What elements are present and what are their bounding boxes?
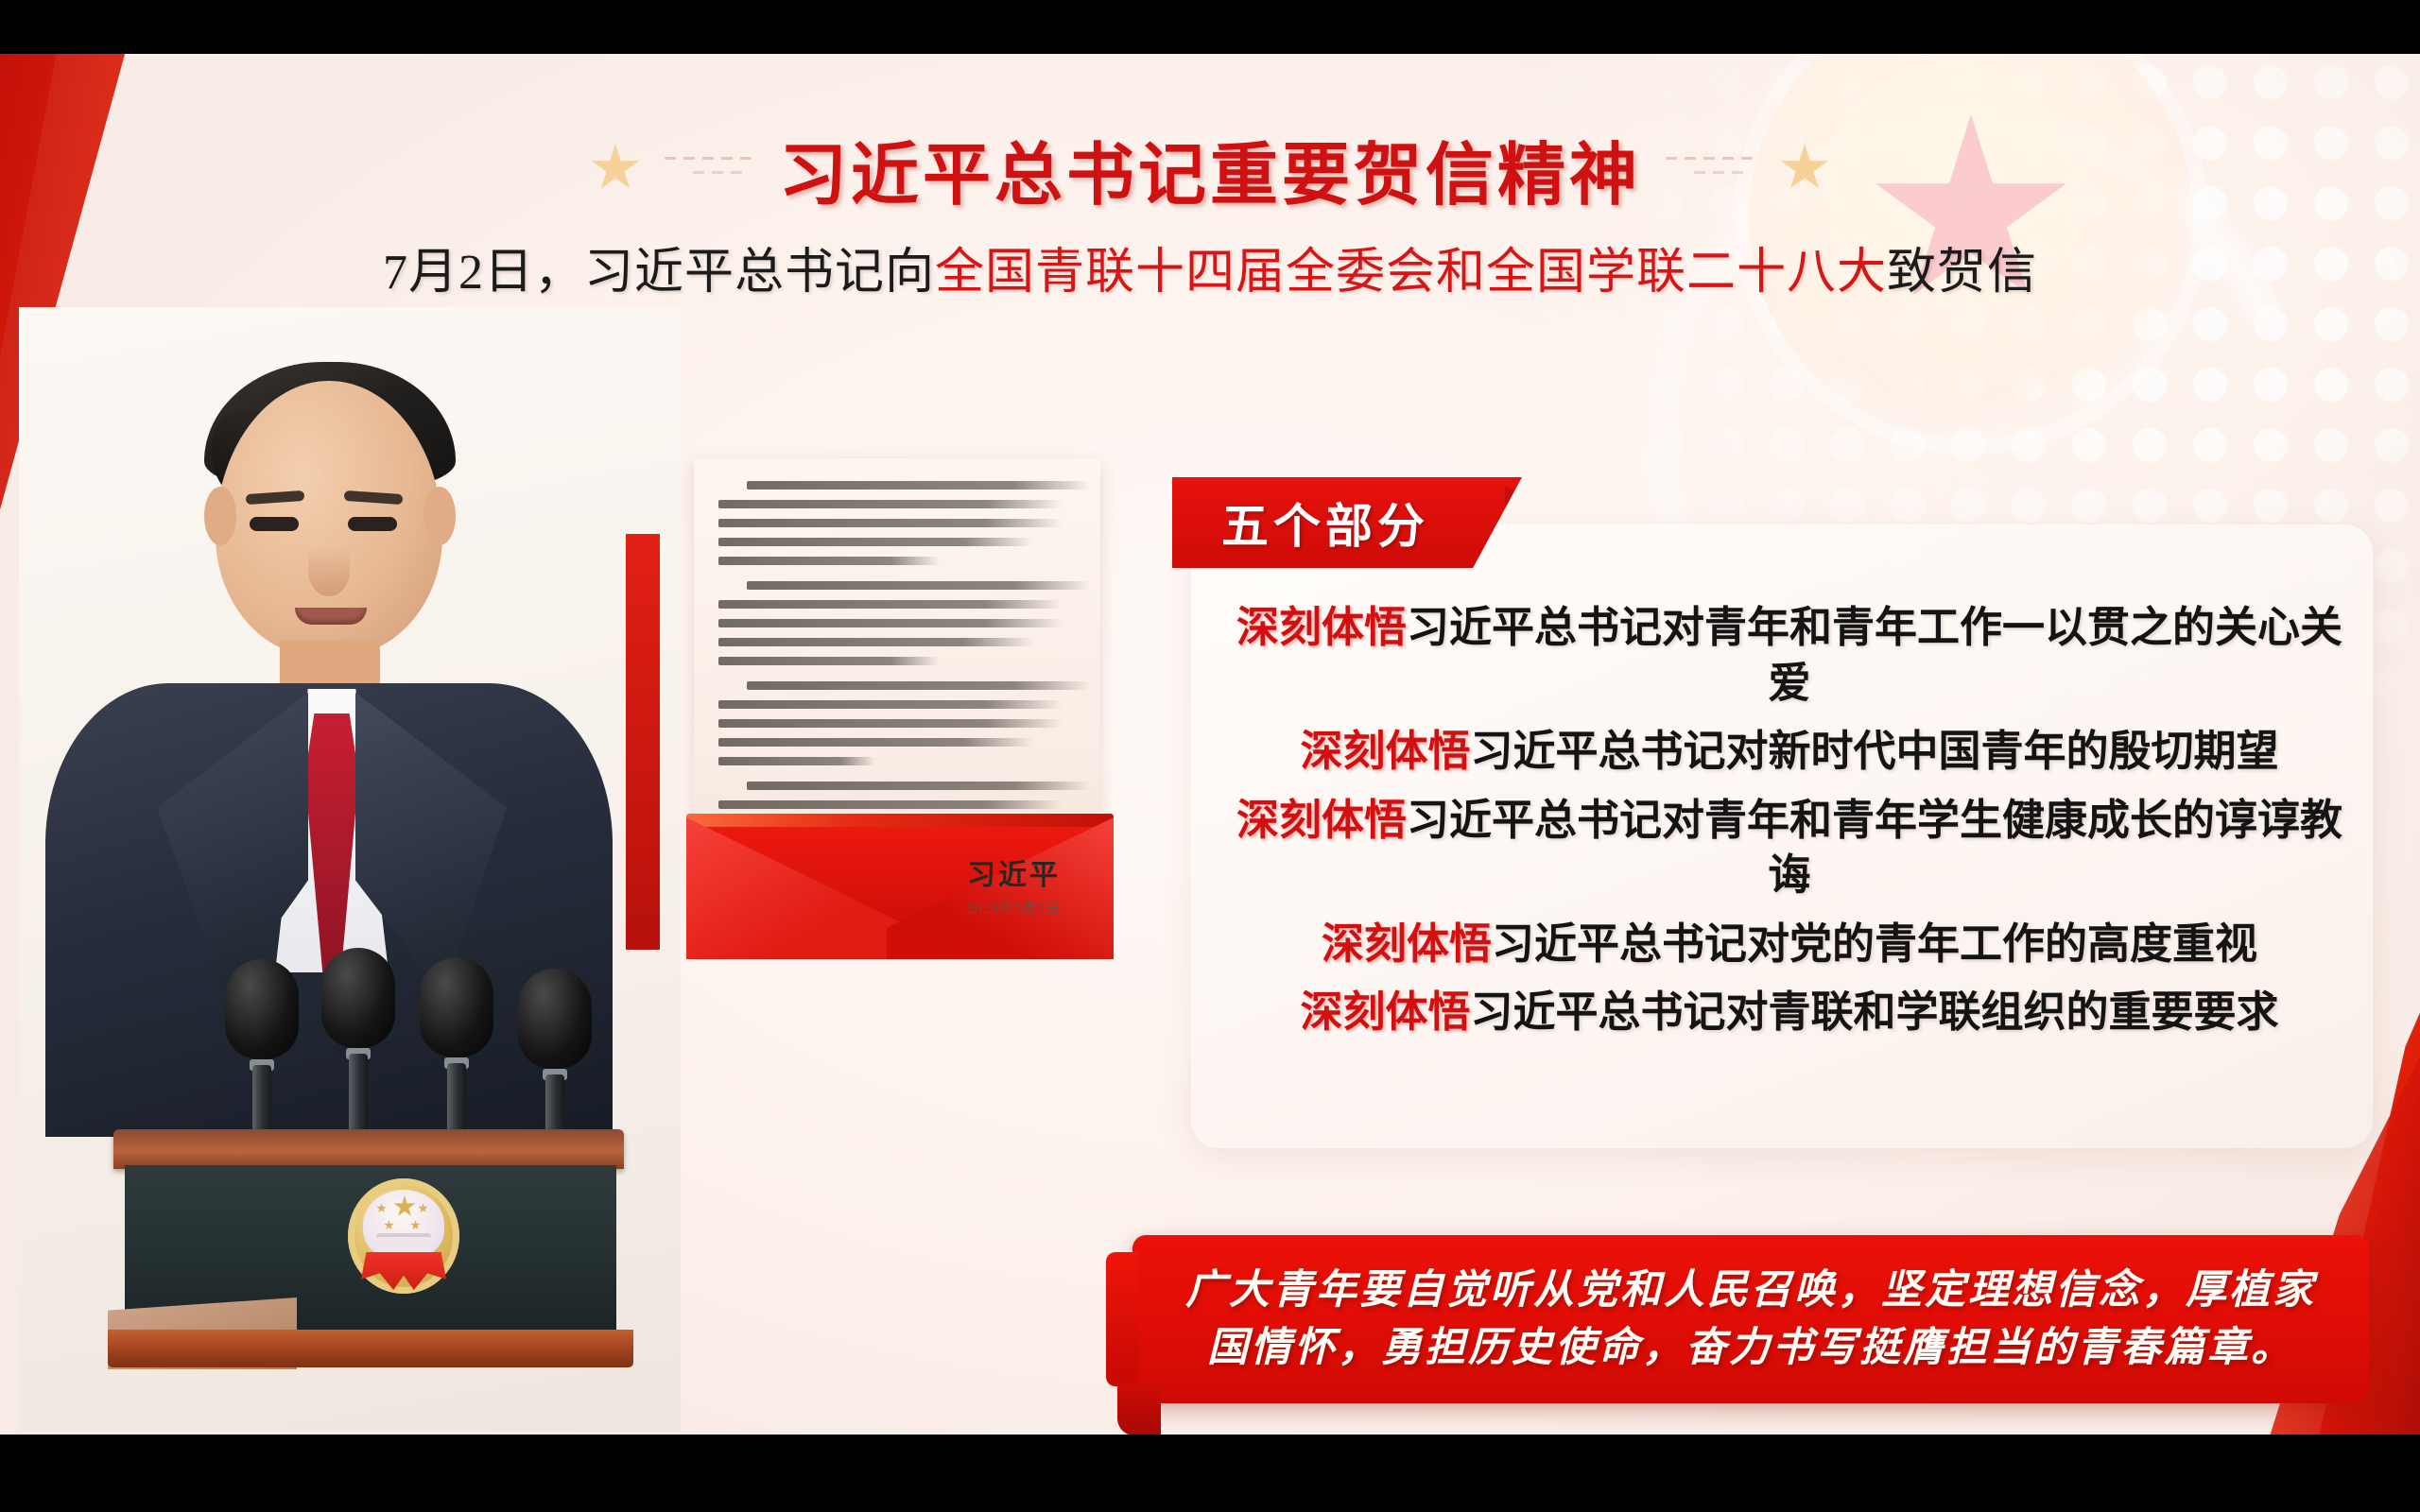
quote-banner: 广大青年要自觉听从党和人民召唤，坚定理想信念，厚植家国情怀，勇担历史使命，奋力书… <box>1132 1235 2369 1403</box>
list-item[interactable]: 深刻体悟习近平总书记对青年和青年学生健康成长的谆谆教诲 <box>1227 793 2352 903</box>
list-item-body: 习近平总书记对青年和青年工作一以贯之的关心关爱 <box>1407 604 2342 707</box>
star-icon-right <box>1780 144 1829 193</box>
dashed-line-decoration-right <box>1666 155 1755 181</box>
subtitle-highlight: 全国青联十四届全委会和全国学联二十八大 <box>935 246 1887 300</box>
list-item-body: 习近平总书记对青联和学联组织的重要要求 <box>1471 988 2279 1036</box>
page-title: 习近平总书记重要贺信精神 <box>779 119 1641 218</box>
subtitle: 7月2日，习近平总书记向全国青联十四届全委会和全国学联二十八大致贺信 <box>0 232 2420 302</box>
list-item[interactable]: 深刻体悟习近平总书记对党的青年工作的高度重视 <box>1227 917 2352 972</box>
xi-jinping-speech-photo <box>19 307 681 1432</box>
letterbox-top <box>0 0 2420 54</box>
podium-base <box>108 1330 633 1367</box>
list-item-lead: 深刻体悟 <box>1236 604 1407 651</box>
subtitle-suffix: 致贺信 <box>1887 246 2037 300</box>
dashed-line-decoration-left <box>665 155 754 181</box>
signature-date: 2025年7月2日 <box>967 898 1061 918</box>
quote-text: 广大青年要自觉听从党和人民召唤，坚定理想信念，厚植家国情怀，勇担历史使命，奋力书… <box>1184 1262 2318 1377</box>
subtitle-prefix: 7月2日，习近平总书记向 <box>383 246 935 300</box>
list-item[interactable]: 深刻体悟习近平总书记对青年和青年工作一以贯之的关心关爱 <box>1227 600 2352 711</box>
nose <box>308 545 350 596</box>
mouth <box>295 608 367 625</box>
title-row: 习近平总书记重要贺信精神 <box>0 107 2420 230</box>
list-item-body: 习近平总书记对新时代中国青年的殷切期望 <box>1471 728 2279 775</box>
slide-canvas: 习近平总书记重要贺信精神 7月2日，习近平总书记向全国青联十四届全委会和全国学联… <box>0 52 2420 1435</box>
photo-red-panel <box>626 534 660 950</box>
five-parts-badge-label: 五个部分 <box>1221 489 1429 557</box>
list-item[interactable]: 深刻体悟习近平总书记对青联和学联组织的重要要求 <box>1227 985 2352 1040</box>
eye-right <box>348 517 397 531</box>
letter-signature: 习近平 2025年7月2日 <box>967 851 1061 918</box>
podium-top <box>113 1129 624 1169</box>
five-parts-badge: 五个部分 <box>1172 477 1522 568</box>
congratulatory-letter-image: 习近平 2025年7月2日 <box>686 458 1117 959</box>
list-item[interactable]: 深刻体悟习近平总书记对新时代中国青年的殷切期望 <box>1227 724 2352 780</box>
list-item-body: 习近平总书记对青年和青年学生健康成长的谆谆教诲 <box>1407 797 2342 900</box>
list-item-lead: 深刻体悟 <box>1236 797 1407 844</box>
list-item-lead: 深刻体悟 <box>1322 920 1492 968</box>
red-envelope <box>686 742 1114 959</box>
list-item-lead: 深刻体悟 <box>1300 988 1470 1036</box>
ear-left <box>204 487 236 545</box>
list-item-body: 习近平总书记对党的青年工作的高度重视 <box>1492 920 2257 968</box>
letterbox-bottom <box>0 1435 2420 1512</box>
five-parts-list: 深刻体悟习近平总书记对青年和青年工作一以贯之的关心关爱 深刻体悟习近平总书记对新… <box>1227 600 2352 1054</box>
signature-name: 习近平 <box>967 851 1061 893</box>
eye-left <box>250 517 299 531</box>
national-emblem-of-china-icon <box>348 1178 459 1294</box>
ear-right <box>423 487 456 545</box>
list-item-lead: 深刻体悟 <box>1300 728 1470 775</box>
star-icon-left <box>591 144 640 193</box>
